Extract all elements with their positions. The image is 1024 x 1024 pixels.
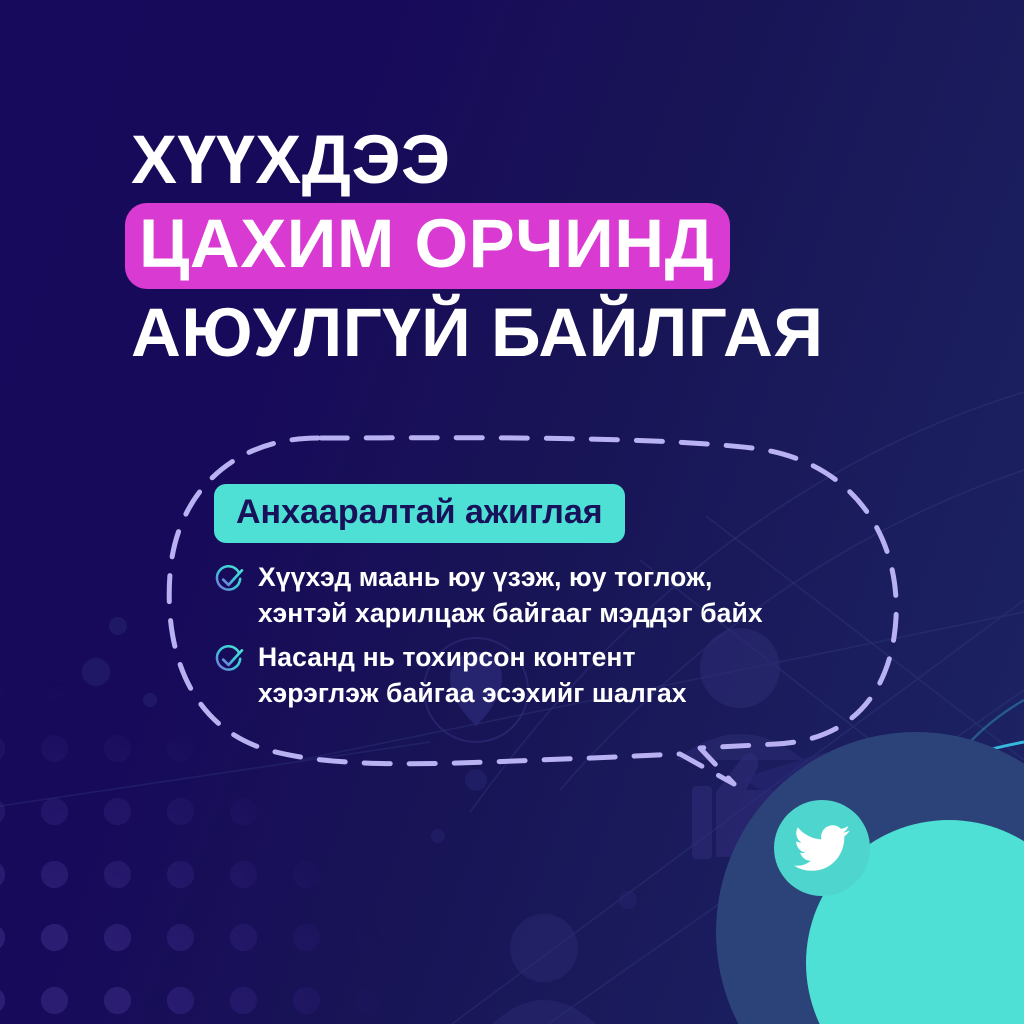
list-item-text-line-2: хэнтэй харилцаж байгааг мэддэг байх [258,595,763,631]
poster-canvas: ХҮҮХДЭЭ ЦАХИМ ОРЧИНД АЮУЛГҮЙ БАЙЛГАЯ Анх… [0,0,1024,1024]
headline-line-1: ХҮҮХДЭЭ [131,122,951,197]
bullet-list: Хүүхэд маань юу үзэж, юу тоглож, хэнтэй … [214,559,854,711]
list-item-text: Хүүхэд маань юу үзэж, юу тоглож, хэнтэй … [258,559,763,631]
list-item-text-line-1: Насанд нь тохирсон контент [258,639,687,675]
attention-chip: Анхааралтай ажиглая [214,484,625,543]
check-circle-icon [214,564,245,595]
list-item: Хүүхэд маань юу үзэж, юу тоглож, хэнтэй … [214,559,854,631]
headline-line-3: АЮУЛГҮЙ БАЙЛГАЯ [131,295,951,370]
list-item-text: Насанд нь тохирсон контент хэрэглэж байг… [258,639,687,711]
check-circle-icon [214,644,245,675]
headline-line-2-highlight: ЦАХИМ ОРЧИНД [125,203,730,289]
list-item-text-line-1: Хүүхэд маань юу үзэж, юу тоглож, [258,559,763,595]
twitter-badge[interactable] [774,800,870,896]
list-item-text-line-2: хэрэглэж байгаа эсэхийг шалгах [258,675,687,711]
list-item: Насанд нь тохирсон контент хэрэглэж байг… [214,639,854,711]
faint-person-icon-2 [492,914,596,1024]
headline-block: ХҮҮХДЭЭ ЦАХИМ ОРЧИНД АЮУЛГҮЙ БАЙЛГАЯ [131,122,951,370]
twitter-bird-icon [794,820,850,876]
speech-bubble-content: Анхааралтай ажиглая Хүүхэд маань юу үзэж… [214,484,854,719]
